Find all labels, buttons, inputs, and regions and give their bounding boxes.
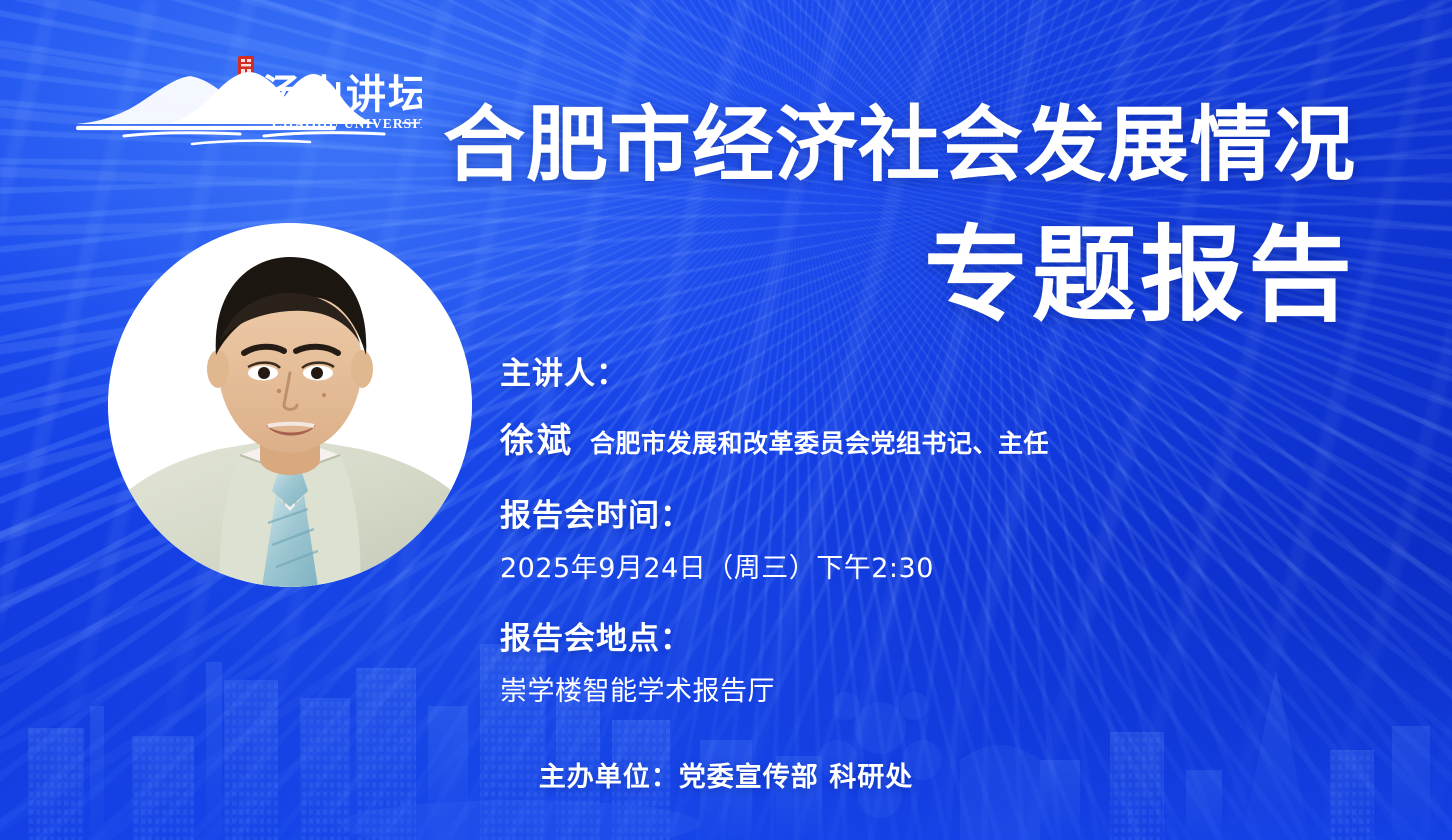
place-value: 崇学楼智能学术报告厅 xyxy=(500,669,1260,708)
title-line-2: 专题报告 xyxy=(443,223,1356,327)
logo-name-en: CHAOHU UNIVERSITY xyxy=(250,116,422,131)
event-poster: 汤山讲坛 CHAOHU UNIVERSITY 合肥市经济社会发展情况 专题报告 xyxy=(0,0,1452,840)
svg-text:CHAOHU UNIVERSITY: CHAOHU UNIVERSITY xyxy=(272,116,422,131)
poster-title: 合肥市经济社会发展情况 专题报告 xyxy=(443,105,1356,327)
speaker-row: 徐斌 合肥市发展和改革委员会党组书记、主任 xyxy=(500,413,1260,462)
speaker-name: 徐斌 xyxy=(500,413,574,462)
time-label: 报告会时间： xyxy=(500,490,1260,535)
organizer-footer: 主办单位：党委宣传部 科研处 xyxy=(0,755,1452,794)
logo-name-cn: 汤山讲坛 xyxy=(262,72,422,118)
title-line-1: 合肥市经济社会发展情况 xyxy=(443,105,1356,187)
speaker-label: 主讲人： xyxy=(500,348,1260,393)
event-details: 主讲人： 徐斌 合肥市发展和改革委员会党组书记、主任 报告会时间： 2025年9… xyxy=(500,348,1260,708)
place-block: 报告会地点： 崇学楼智能学术报告厅 xyxy=(500,613,1260,708)
speaker-title: 合肥市发展和改革委员会党组书记、主任 xyxy=(590,424,1049,460)
time-value: 2025年9月24日（周三）下午2:30 xyxy=(500,546,1260,585)
place-label: 报告会地点： xyxy=(500,613,1260,658)
speaker-portrait xyxy=(108,223,472,587)
svg-text:汤山讲坛: 汤山讲坛 xyxy=(262,72,422,118)
time-block: 报告会时间： 2025年9月24日（周三）下午2:30 xyxy=(500,490,1260,585)
chaohu-university-logo: 汤山讲坛 CHAOHU UNIVERSITY xyxy=(72,52,422,152)
